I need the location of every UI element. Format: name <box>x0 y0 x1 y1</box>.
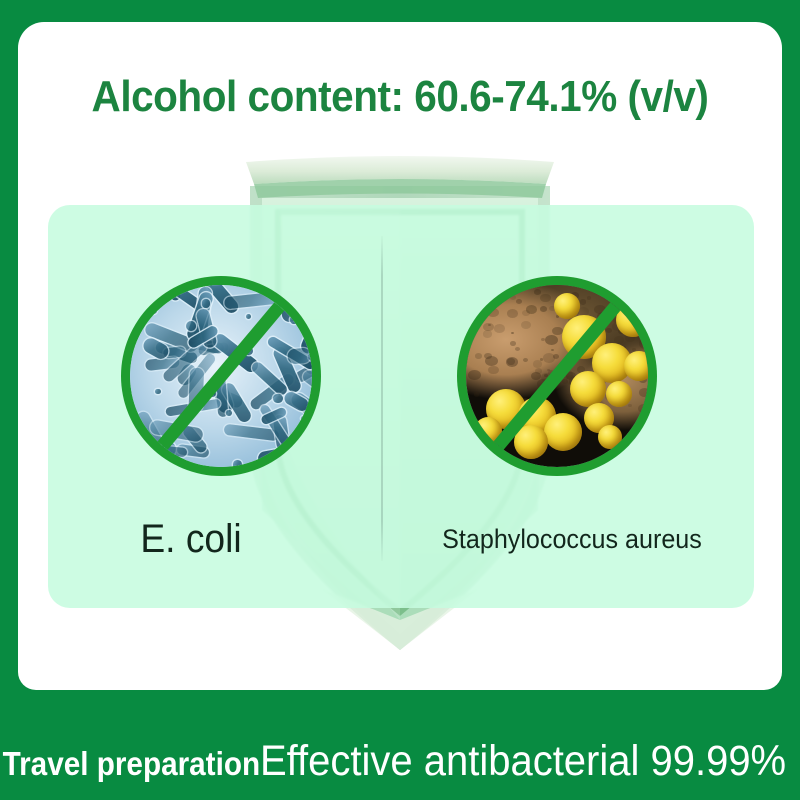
bottom-banner: Travel preparation Effective antibacteri… <box>0 690 800 800</box>
panel-divider <box>381 236 383 561</box>
page-title: Alcohol content: 60.6-74.1% (v/v) <box>32 72 768 122</box>
staph-caption: Staphylococcus aureus <box>395 524 748 555</box>
banner-left-text: Travel preparation <box>3 745 260 783</box>
product-poster: Alcohol content: 60.6-74.1% (v/v) <box>0 0 800 800</box>
banner-right-text: Effective antibacterial 99.99% <box>260 737 786 786</box>
staph-prohibition-icon <box>466 285 648 467</box>
ecoli-prohibition-icon <box>130 285 312 467</box>
ecoli-caption: E. coli <box>13 517 368 562</box>
